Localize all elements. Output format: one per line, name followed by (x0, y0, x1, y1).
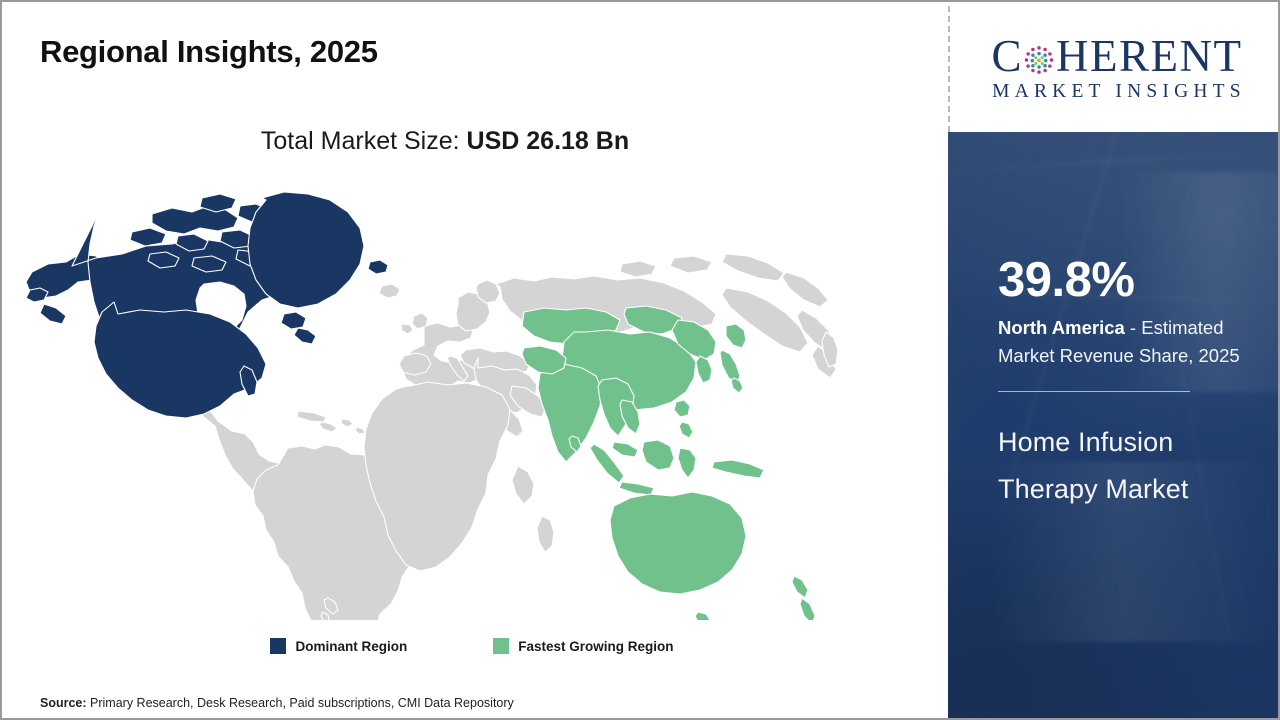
map-region-asia-pacific (522, 306, 815, 620)
legend-label-fastest-growing: Fastest Growing Region (518, 639, 673, 654)
market-size-label: Total Market Size: (261, 127, 467, 155)
market-title: Home Infusion Therapy Market (998, 419, 1246, 512)
legend-item-fastest-growing: Fastest Growing Region (493, 638, 673, 654)
source-note: Source: Primary Research, Desk Research,… (40, 696, 514, 710)
stat-description: North America - Estimated Market Revenue… (998, 314, 1246, 370)
logo-letters-herent: HERENT (1056, 35, 1242, 78)
logo-tagline: MARKET INSIGHTS (988, 81, 1246, 103)
world-map-svg (26, 180, 866, 620)
regional-insights-infographic: Regional Insights, 2025 Total Market Siz… (0, 0, 1280, 720)
color-swatch-icon (270, 638, 286, 654)
logo-wordmark: C (992, 35, 1243, 78)
stat-region-name: North America (998, 317, 1125, 338)
source-text: Primary Research, Desk Research, Paid su… (87, 696, 514, 710)
world-map (26, 180, 866, 620)
total-market-size: Total Market Size: USD 26.18 Bn (2, 127, 888, 156)
globe-dots-icon (1023, 44, 1055, 76)
map-region-other (178, 254, 838, 620)
legend-label-dominant: Dominant Region (295, 639, 407, 654)
page-title: Regional Insights, 2025 (40, 34, 378, 70)
map-legend: Dominant Region Fastest Growing Region (2, 638, 942, 654)
stat-panel: 39.8% North America - Estimated Market R… (948, 132, 1280, 720)
vertical-dashed-divider (948, 6, 950, 132)
stat-percent-value: 39.8% (998, 256, 1246, 305)
market-size-value: USD 26.18 Bn (467, 127, 630, 155)
stat-panel-content: 39.8% North America - Estimated Market R… (948, 132, 1280, 512)
color-swatch-icon (493, 638, 509, 654)
brand-logo[interactable]: C (954, 2, 1280, 132)
logo-letter-c: C (992, 35, 1024, 78)
logo-lockup: C (969, 35, 1265, 103)
legend-item-dominant: Dominant Region (270, 638, 407, 654)
left-content-pane: Regional Insights, 2025 Total Market Siz… (2, 2, 948, 718)
source-label: Source: (40, 696, 87, 710)
map-region-north-america (26, 192, 388, 418)
horizontal-rule (998, 391, 1190, 392)
